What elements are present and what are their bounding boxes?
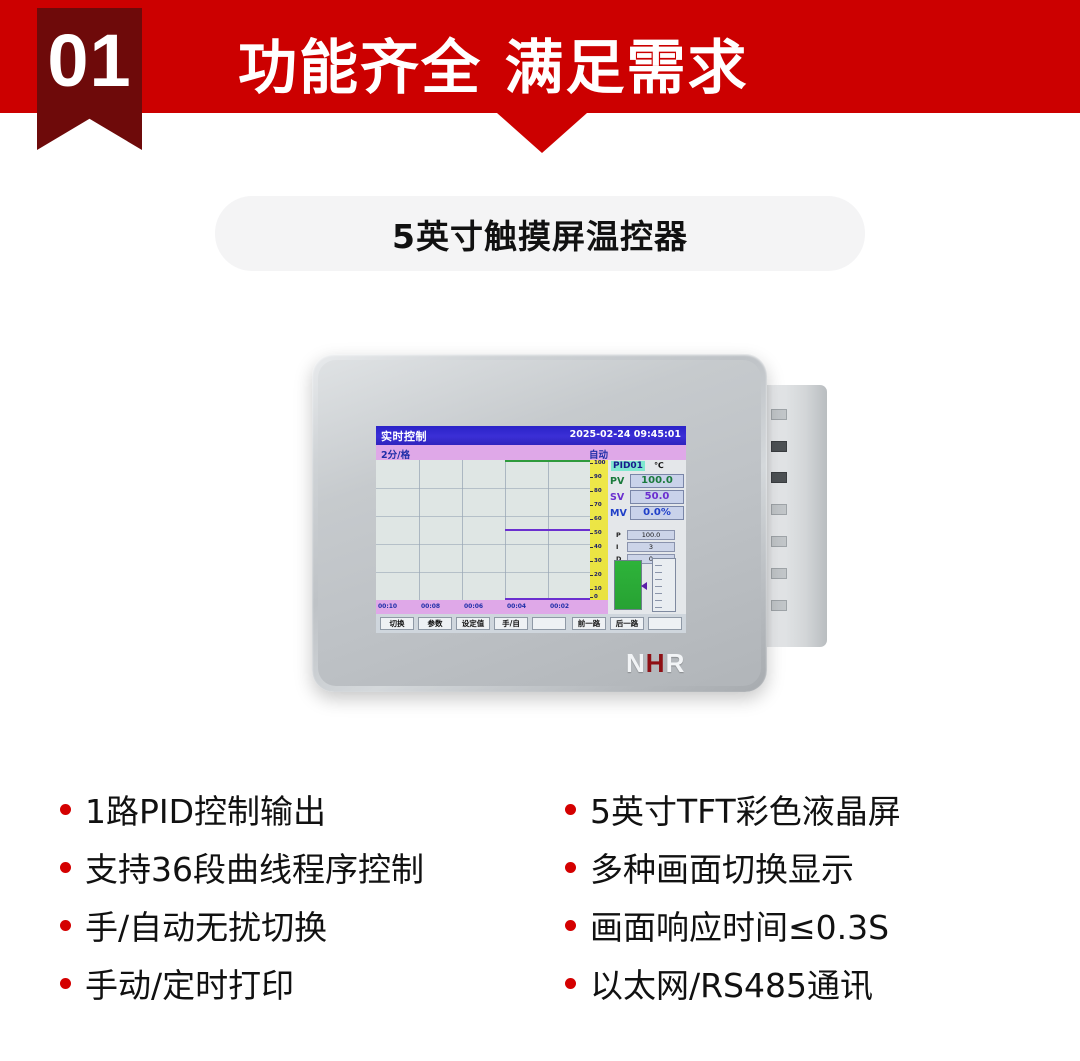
feature-item: 画面响应时间≤0.3S <box>565 896 1065 954</box>
bullet-dot-icon <box>565 862 576 873</box>
readout-value: 100.0 <box>630 474 684 488</box>
feature-item: 手动/定时打印 <box>60 954 560 1012</box>
softkey-manual-auto[interactable]: 手/自 <box>494 617 528 630</box>
lcd-trend-plot <box>376 460 590 600</box>
brand-logo: NHR <box>626 648 685 679</box>
readout-label: PV <box>610 476 624 487</box>
lcd-datetime: 2025-02-24 09:45:01 <box>570 429 681 440</box>
lcd-readout-panel: PID01 ℃ PV 100.0 SV 50.0 MV 0.0% <box>608 460 686 614</box>
grid-line-h <box>376 572 590 573</box>
time-tick: 00:02 <box>550 603 569 610</box>
section-number: 01 <box>47 24 131 98</box>
banner-notch <box>497 113 587 153</box>
grid-line-v <box>419 460 420 600</box>
y-tick: 90 <box>590 474 608 480</box>
feature-lists: 1路PID控制输出 支持36段曲线程序控制 手/自动无扰切换 手动/定时打印 5… <box>0 780 1080 1040</box>
vertical-gauge <box>652 558 676 612</box>
time-tick: 00:10 <box>378 603 397 610</box>
output-bar-graph <box>614 560 642 610</box>
y-tick: 30 <box>590 558 608 564</box>
y-tick: 100 <box>590 460 608 466</box>
section-number-ribbon: 01 <box>37 8 142 150</box>
feature-text: 以太网/RS485通讯 <box>590 959 873 1007</box>
lcd-sub-bar: 2分/格 自动 <box>376 445 686 460</box>
softkey-setpoint[interactable]: 设定值 <box>456 617 490 630</box>
feature-item: 以太网/RS485通讯 <box>565 954 1065 1012</box>
channel-badge: PID01 <box>611 461 645 471</box>
pid-label: I <box>616 543 618 551</box>
rail-slot <box>771 409 787 420</box>
bullet-dot-icon <box>60 862 71 873</box>
unit-label: ℃ <box>654 461 664 470</box>
softkey-blank-2[interactable] <box>648 617 682 630</box>
feature-text: 手/自动无扰切换 <box>85 901 327 949</box>
grid-line-h <box>376 516 590 517</box>
trend-series-sv <box>505 529 590 531</box>
feature-text: 5英寸TFT彩色液晶屏 <box>590 785 901 833</box>
logo-letter-n: N <box>626 648 646 678</box>
trend-series-pv <box>505 460 590 462</box>
y-tick: 60 <box>590 516 608 522</box>
feature-item: 5英寸TFT彩色液晶屏 <box>565 780 1065 838</box>
feature-text: 多种画面切换显示 <box>590 843 854 891</box>
y-tick: 70 <box>590 502 608 508</box>
feature-column-left: 1路PID控制输出 支持36段曲线程序控制 手/自动无扰切换 手动/定时打印 <box>60 780 560 1012</box>
readout-value: 0.0% <box>630 506 684 520</box>
feature-column-right: 5英寸TFT彩色液晶屏 多种画面切换显示 画面响应时间≤0.3S 以太网/RS4… <box>565 780 1065 1012</box>
feature-item: 支持36段曲线程序控制 <box>60 838 560 896</box>
rail-slot <box>771 504 787 515</box>
readout-label: SV <box>610 492 624 503</box>
softkey-parameter[interactable]: 参数 <box>418 617 452 630</box>
time-tick: 00:04 <box>507 603 526 610</box>
time-tick: 00:06 <box>464 603 483 610</box>
readout-row-mv: MV 0.0% <box>610 506 684 521</box>
pid-value: 3 <box>627 542 675 552</box>
bullet-dot-icon <box>565 804 576 815</box>
pid-row-p: P 100.0 <box>616 530 676 541</box>
softkey-next-channel[interactable]: 后一路 <box>610 617 644 630</box>
feature-text: 支持36段曲线程序控制 <box>85 843 424 891</box>
softkey-blank-1[interactable] <box>532 617 566 630</box>
lcd-timebase-label: 2分/格 <box>381 447 410 461</box>
grid-line-v <box>462 460 463 600</box>
readout-label: MV <box>610 508 627 519</box>
rail-slot <box>771 536 787 547</box>
feature-text: 画面响应时间≤0.3S <box>590 901 889 949</box>
readout-row-pv: PV 100.0 <box>610 474 684 489</box>
device-image: 实时控制 2025-02-24 09:45:01 2分/格 自动 <box>300 330 830 710</box>
logo-letter-r: R <box>666 648 686 678</box>
pid-label: P <box>616 531 621 539</box>
y-tick: 40 <box>590 544 608 550</box>
bullet-dot-icon <box>60 978 71 989</box>
pid-value: 100.0 <box>627 530 675 540</box>
logo-letter-h: H <box>646 648 666 678</box>
device-lcd-screen[interactable]: 实时控制 2025-02-24 09:45:01 2分/格 自动 <box>376 426 686 633</box>
product-title-card: 5英寸触摸屏温控器 <box>215 196 865 271</box>
rail-slot <box>771 600 787 611</box>
y-tick: 80 <box>590 488 608 494</box>
feature-text: 1路PID控制输出 <box>85 785 326 833</box>
readout-row-sv: SV 50.0 <box>610 490 684 505</box>
banner-title: 功能齐全 满足需求 <box>238 20 749 105</box>
lcd-y-axis-scale: 100 90 80 70 60 50 40 30 20 10 0 <box>590 460 608 600</box>
feature-text: 手动/定时打印 <box>85 959 294 1007</box>
bullet-dot-icon <box>565 920 576 931</box>
lcd-title-bar: 实时控制 2025-02-24 09:45:01 <box>376 426 686 445</box>
readout-header: PID01 ℃ <box>608 460 686 473</box>
readout-value: 50.0 <box>630 490 684 504</box>
softkey-switch[interactable]: 切换 <box>380 617 414 630</box>
grid-line-h <box>376 488 590 489</box>
product-title: 5英寸触摸屏温控器 <box>392 210 688 258</box>
lcd-softkey-bar: 切换 参数 设定值 手/自 前一路 后一路 <box>376 614 686 633</box>
lcd-time-axis: 00:10 00:08 00:06 00:04 00:02 <box>376 600 608 614</box>
feature-item: 多种画面切换显示 <box>565 838 1065 896</box>
bullet-dot-icon <box>565 978 576 989</box>
device-bezel: 实时控制 2025-02-24 09:45:01 2分/格 自动 <box>318 360 761 686</box>
pid-row-i: I 3 <box>616 542 676 553</box>
bullet-dot-icon <box>60 804 71 815</box>
rail-slot <box>771 568 787 579</box>
setpoint-marker-icon <box>641 582 647 590</box>
rail-slot <box>771 472 787 483</box>
softkey-prev-channel[interactable]: 前一路 <box>572 617 606 630</box>
y-tick: 10 <box>590 586 608 592</box>
time-tick: 00:08 <box>421 603 440 610</box>
y-tick: 20 <box>590 572 608 578</box>
y-tick: 50 <box>590 530 608 536</box>
grid-line-h <box>376 544 590 545</box>
rail-slot <box>771 441 787 452</box>
bullet-dot-icon <box>60 920 71 931</box>
lcd-screen-title: 实时控制 <box>381 428 427 444</box>
feature-item: 手/自动无扰切换 <box>60 896 560 954</box>
lcd-mode-label: 自动 <box>589 447 608 461</box>
feature-item: 1路PID控制输出 <box>60 780 560 838</box>
device-body: 实时控制 2025-02-24 09:45:01 2分/格 自动 <box>312 354 767 692</box>
